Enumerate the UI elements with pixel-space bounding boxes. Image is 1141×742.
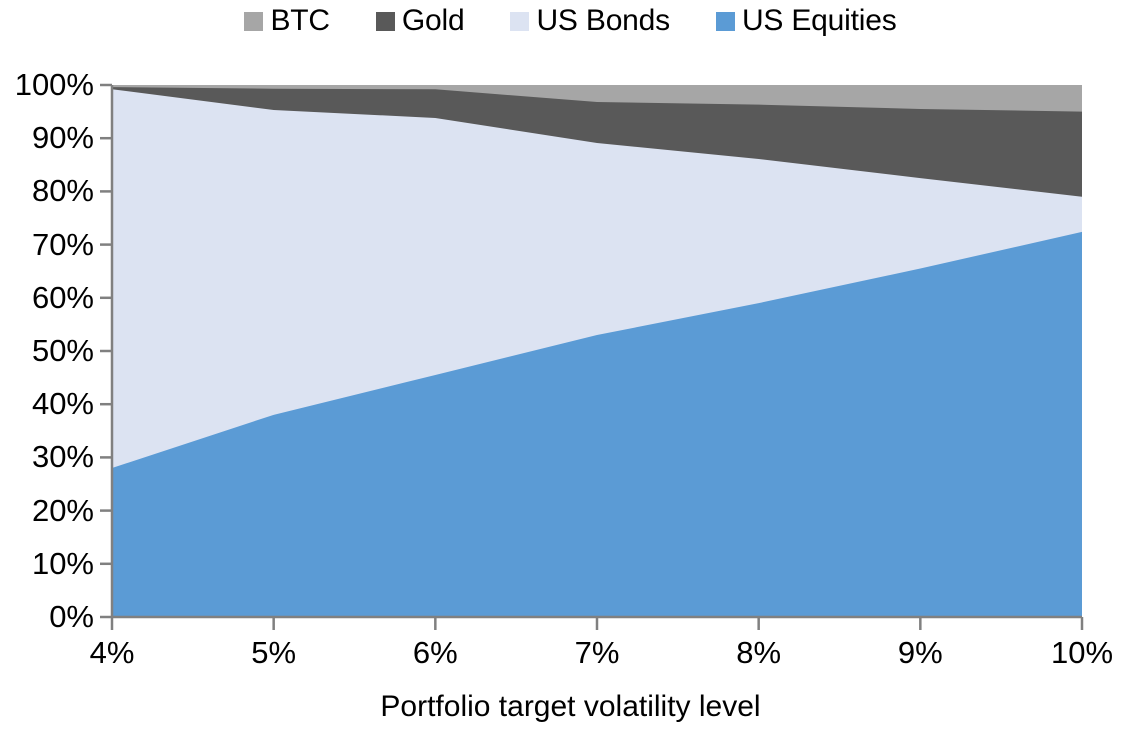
y-axis-tick-label: 0%	[0, 601, 94, 632]
y-axis-tick-label: 10%	[0, 548, 94, 579]
x-axis-tick-label: 10%	[1022, 637, 1141, 668]
x-axis-tick-label: 8%	[699, 637, 819, 668]
stacked-area-chart: BTCGoldUS BondsUS Equities 100%90%80%70%…	[0, 0, 1141, 742]
x-axis-tick-label: 5%	[214, 637, 334, 668]
x-axis-tick-label: 9%	[860, 637, 980, 668]
y-axis-tick-label: 20%	[0, 495, 94, 526]
plot-area: 100%90%80%70%60%50%40%30%20%10%0% 4%5%6%…	[0, 0, 1141, 742]
x-axis-tick-label: 4%	[52, 637, 172, 668]
y-axis-tick-label: 70%	[0, 229, 94, 260]
y-axis-tick-label: 50%	[0, 335, 94, 366]
plot-svg	[0, 0, 1141, 742]
y-axis-tick-label: 80%	[0, 175, 94, 206]
y-axis-tick-label: 60%	[0, 282, 94, 313]
y-axis-tick-label: 30%	[0, 441, 94, 472]
x-axis-title: Portfolio target volatility level	[0, 692, 1141, 722]
y-axis-tick-label: 90%	[0, 122, 94, 153]
x-axis-tick-label: 7%	[537, 637, 657, 668]
y-axis-tick-label: 40%	[0, 388, 94, 419]
y-axis-tick-label: 100%	[0, 69, 94, 100]
x-axis-tick-label: 6%	[375, 637, 495, 668]
